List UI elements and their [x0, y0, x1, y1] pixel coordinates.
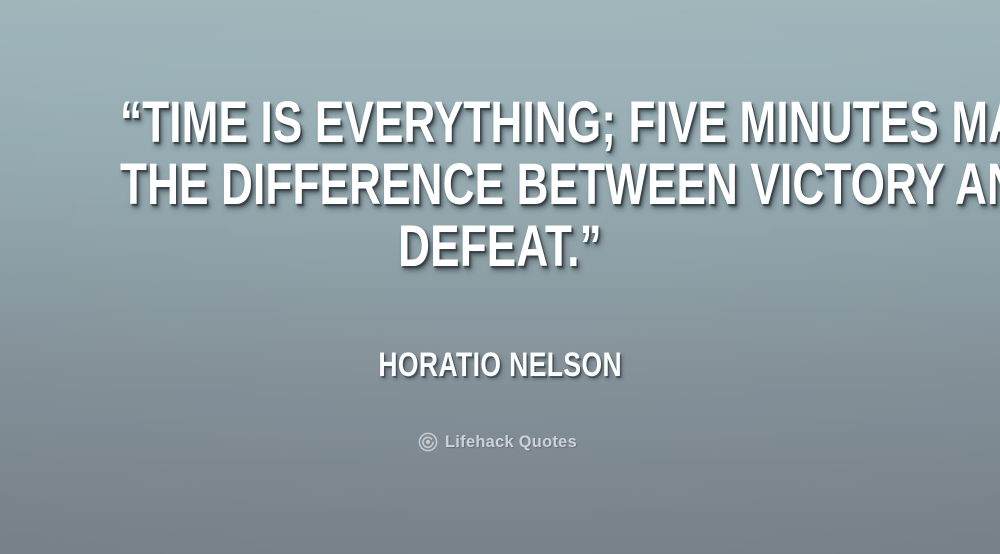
quote-card: “TIME IS EVERYTHING; FIVE MINUTES MAKE T…: [0, 0, 1000, 554]
brand-watermark: Lifehack Quotes: [0, 432, 1000, 452]
quote-line-3: DEFEAT.”: [120, 216, 880, 278]
quote-text-block: “TIME IS EVERYTHING; FIVE MINUTES MAKE T…: [0, 92, 1000, 278]
quote-line-1: “TIME IS EVERYTHING; FIVE MINUTES MAKE: [120, 92, 880, 154]
author-name: HORATIO NELSON: [378, 346, 622, 384]
author-attribution: HORATIO NELSON: [0, 346, 1000, 384]
brand-name: Lifehack Quotes: [445, 432, 577, 452]
lifehack-spiral-logo-icon: [418, 432, 438, 452]
quote-line-2: THE DIFFERENCE BETWEEN VICTORY AND: [120, 154, 880, 216]
